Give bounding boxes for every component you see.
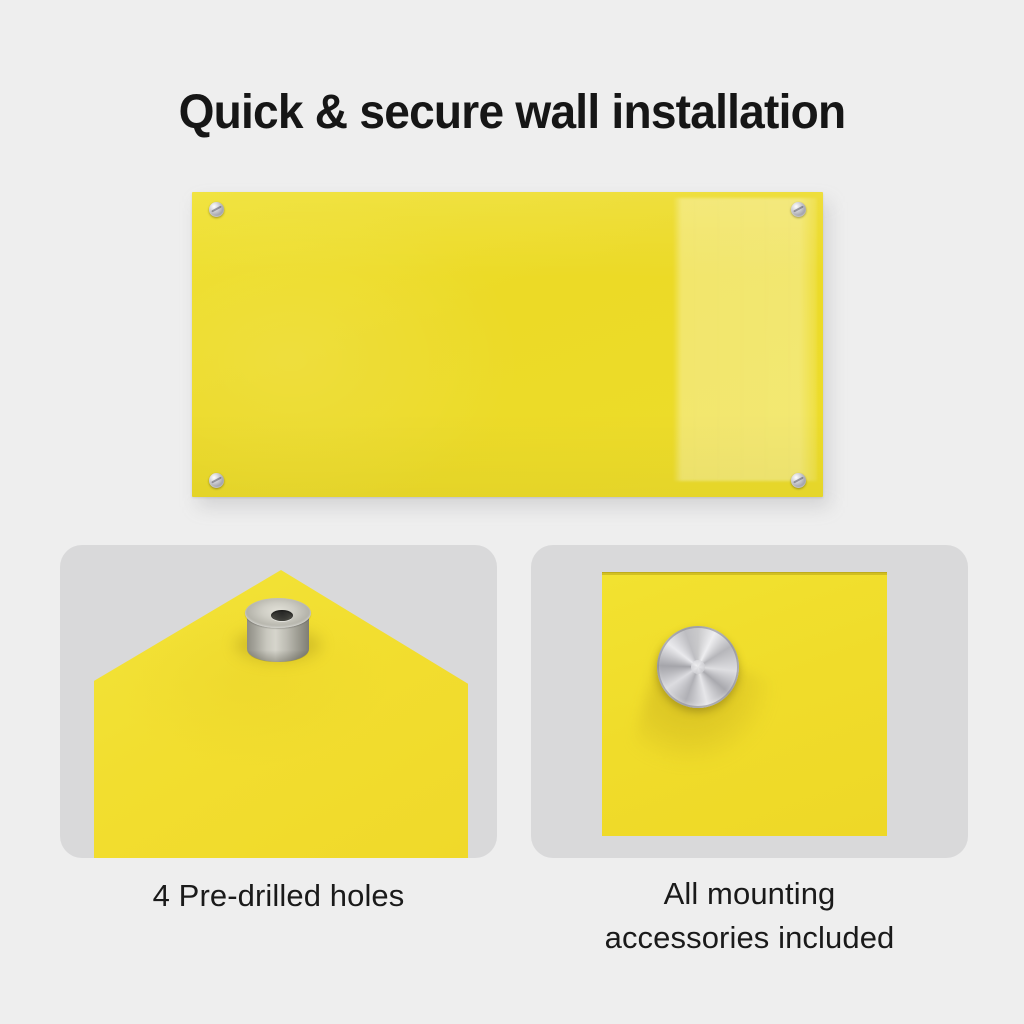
glass-square-top-edge xyxy=(602,572,887,575)
mounting-cap-hardware xyxy=(657,626,739,708)
screw-top-left-icon xyxy=(209,202,224,217)
hero-glass-board xyxy=(192,192,823,497)
caption-pre-drilled-holes: 4 Pre-drilled holes xyxy=(60,874,497,918)
product-feature-graphic: Quick & secure wall installation xyxy=(0,0,1024,1024)
cap-center-highlight xyxy=(691,660,705,674)
feature-card-pre-drilled-holes xyxy=(60,545,497,858)
caption-mounting-accessories: All mounting accessories included xyxy=(531,872,968,960)
screw-top-right-icon xyxy=(791,202,806,217)
caption-line-2: accessories included xyxy=(531,916,968,960)
standoff-spacer-hardware xyxy=(241,594,315,670)
standoff-center-hole-icon xyxy=(271,610,293,621)
page-title: Quick & secure wall installation xyxy=(20,85,1003,140)
screw-bottom-left-icon xyxy=(209,473,224,488)
caption-line-1: All mounting xyxy=(531,872,968,916)
hero-panel-surface xyxy=(192,192,823,497)
screw-bottom-right-icon xyxy=(791,473,806,488)
standoff-top-face xyxy=(245,598,311,628)
hero-surface-gradient xyxy=(192,192,823,497)
